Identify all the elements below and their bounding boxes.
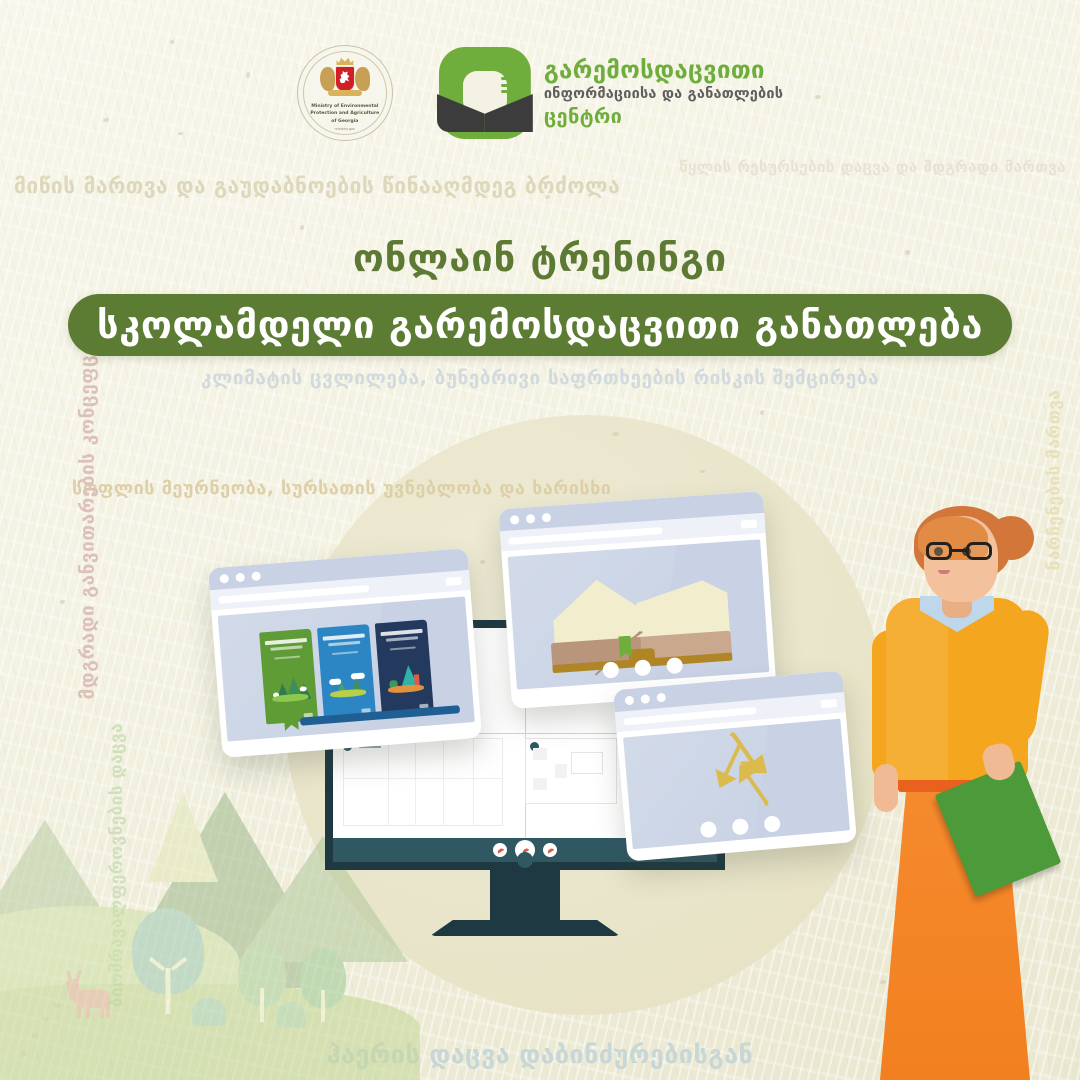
address-bar[interactable] (623, 706, 756, 725)
watermark-water-resources: წყლის რესურსების დაცვა და მდგრადი მართვა (679, 158, 1066, 176)
grid-line (388, 738, 389, 826)
grid-panel (343, 738, 503, 826)
book-cover-navy[interactable] (375, 619, 434, 715)
left-forearm (874, 764, 898, 812)
watermark-land-management: მიწის მართვა და გაუდაბნოების წინააღმდეგ … (14, 174, 620, 198)
bush-1 (192, 998, 226, 1026)
glasses-bridge (952, 549, 966, 552)
address-bar[interactable] (508, 527, 662, 545)
window-content-open-book (508, 539, 770, 689)
toolbar-button[interactable] (741, 519, 758, 528)
mute-button[interactable] (493, 843, 507, 857)
window-dot-3[interactable] (251, 571, 261, 581)
heraldic-band (328, 90, 362, 96)
deer-leg (77, 1004, 81, 1018)
window-dot-2[interactable] (526, 513, 536, 523)
tree-large (132, 908, 204, 1014)
open-book-icon (545, 561, 732, 673)
footprint (32, 1033, 39, 1038)
slide-thumb (533, 778, 547, 790)
lens-right (966, 542, 992, 560)
window-dot-2[interactable] (235, 572, 245, 582)
tree-trunk (260, 988, 264, 1022)
tree-trunk (321, 990, 325, 1022)
tree-trunk (166, 968, 171, 1014)
logo-lines-icon (501, 77, 527, 93)
browser-window-books[interactable] (208, 548, 482, 758)
toolbar-button[interactable] (445, 577, 462, 586)
book-cover-art-forest (266, 667, 313, 712)
kicker-title: ონლაინ ტრენინგი (0, 236, 1080, 280)
book-cover-art-wind (324, 662, 371, 707)
address-bar[interactable] (218, 584, 369, 603)
book-cover-art-iceberg (382, 658, 429, 703)
lens-left (926, 542, 952, 560)
deer-icon (66, 970, 120, 1018)
organization-logo: გარემოსდაცვითი ინფორმაციისა და განათლები… (439, 47, 783, 139)
org-logo-mark-icon (439, 47, 531, 139)
header-logos: საქართველოს გარემოს დაცვისა და სოფლის მე… (0, 45, 1080, 141)
grid-line (343, 778, 503, 779)
grid-line (473, 738, 474, 826)
slide-image-placeholder (571, 752, 603, 774)
slide-thumb (555, 764, 567, 778)
book-cover-blue[interactable] (317, 624, 376, 720)
woman-teacher-character (846, 515, 1080, 1080)
bush-2 (276, 1002, 306, 1028)
headline-text: სკოლამდელი გარემოსდაცვითი განათლება (97, 303, 983, 347)
video-button[interactable] (543, 843, 557, 857)
org-name-line3: ცენტრი (544, 104, 783, 128)
browser-window-recycle[interactable] (613, 670, 857, 861)
watermark-climate-change: კლიმატის ცვლილება, ბუნებრივი საფრთხეების… (0, 367, 1080, 389)
glasses-icon (926, 542, 992, 560)
lion-left-icon (320, 67, 335, 91)
footprint (54, 1003, 61, 1008)
footprint (20, 1051, 27, 1056)
book-pages-right (634, 579, 730, 639)
deer-antler-right (75, 970, 81, 982)
watermark-agriculture: სოფლის მეურნეობა, სურსათის უვნებლობა და … (72, 478, 611, 499)
sweater-shading (886, 598, 948, 780)
poster-root: მიწის მართვა და გაუდაბნოების წინააღმდეგ … (0, 0, 1080, 1080)
window-dot-2[interactable] (640, 694, 650, 704)
window-dot-3[interactable] (542, 512, 552, 522)
window-dot-1[interactable] (624, 695, 634, 705)
org-logo-text: გარემოსდაცვითი ინფორმაციისა და განათლები… (544, 58, 783, 128)
footprint (42, 1017, 49, 1022)
deer-leg (106, 1004, 110, 1018)
monitor-indicator (517, 852, 533, 868)
paper-fleck (60, 600, 65, 604)
crown-icon (336, 56, 353, 65)
slide-thumb (533, 748, 547, 760)
grid-line (415, 738, 416, 826)
paper-fleck (760, 410, 764, 415)
org-name-line1: გარემოსდაცვითი (544, 58, 783, 82)
grid-line (443, 738, 444, 826)
georgia-coat-of-arms-icon (320, 57, 370, 103)
org-name-line2: ინფორმაციისა და განათლების (544, 86, 783, 102)
paper-fleck (170, 40, 174, 44)
logo-open-book-icon (437, 94, 533, 132)
monitor-stand-neck (490, 870, 560, 928)
deer-leg (100, 1004, 104, 1018)
browser-window-open-book[interactable] (498, 491, 776, 709)
paper-fleck (300, 225, 304, 230)
lion-right-icon (355, 67, 370, 91)
window-content-recycle (623, 719, 850, 850)
watermark-sustainable-development: მდგრადი განვითარების კონცეფცია (77, 332, 99, 699)
skirt-fold (1038, 870, 1048, 1080)
monitor-stand-base (430, 920, 620, 936)
window-content-books (218, 596, 475, 741)
window-dot-1[interactable] (219, 573, 229, 583)
window-dot-3[interactable] (656, 692, 666, 702)
deer-leg (86, 1004, 90, 1018)
toolbar-button[interactable] (821, 699, 838, 708)
government-seal-logo: საქართველოს გარემოს დაცვისა და სოფლის მე… (297, 45, 393, 141)
book-pages-left (550, 577, 640, 645)
headline-banner: სკოლამდელი გარემოსდაცვითი განათლება (68, 294, 1012, 356)
window-dot-1[interactable] (510, 515, 520, 525)
